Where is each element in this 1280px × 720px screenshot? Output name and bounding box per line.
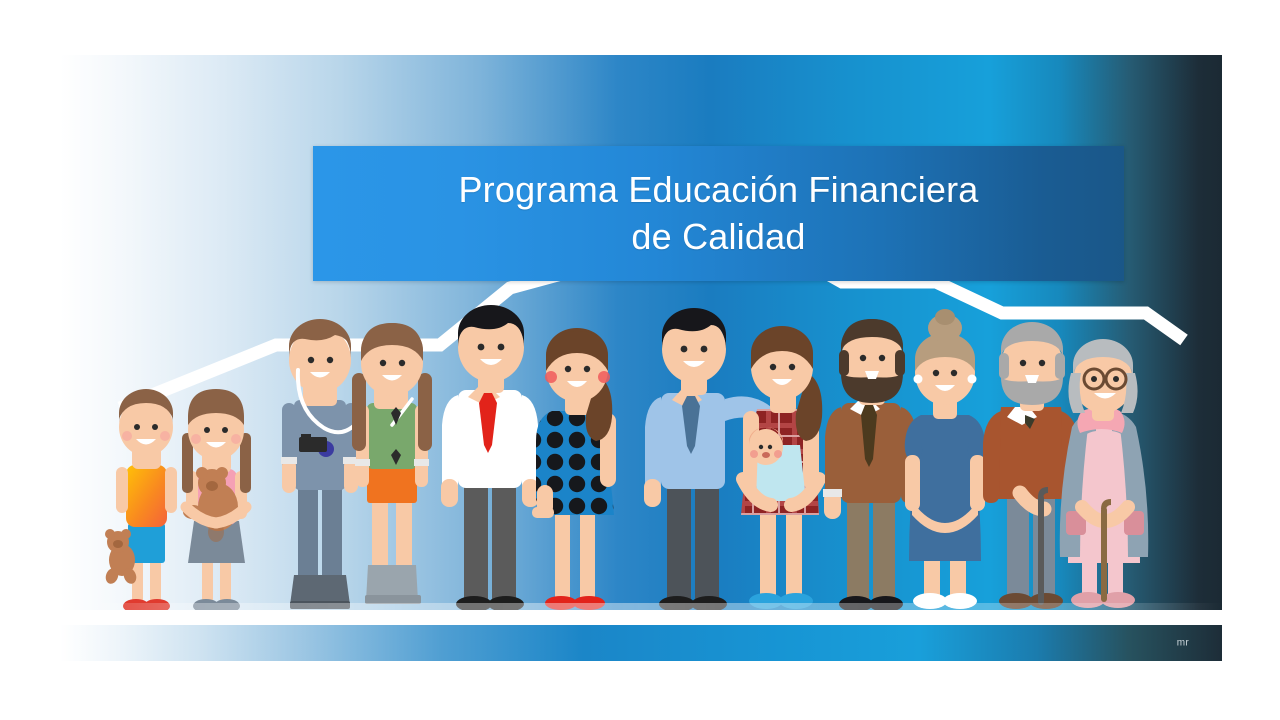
page-title: Programa Educación Financiera de Calidad: [458, 167, 978, 259]
person-child-girl: [182, 389, 251, 610]
slide-canvas: Programa Educación Financiera de Calidad…: [0, 0, 1280, 720]
ground-strip: [60, 603, 1222, 610]
person-young-woman: [532, 328, 616, 610]
people-illustration-group: [60, 55, 1222, 610]
person-elderly-woman: [1060, 339, 1149, 608]
person-bearded-man: [823, 319, 917, 610]
person-child-boy: [104, 389, 177, 610]
person-blonde-woman: [905, 309, 986, 609]
person-teen-girl: [352, 323, 432, 604]
bottom-accent-bar: mr: [60, 625, 1222, 661]
person-teen-boy: [281, 319, 366, 609]
illustration-panel: Programa Educación Financiera de Calidad: [60, 55, 1222, 610]
person-elderly-man: [983, 322, 1079, 609]
footer-label: mr: [1177, 638, 1189, 649]
person-mother-with-baby: [741, 326, 822, 609]
person-young-man: [441, 305, 539, 610]
title-plate: Programa Educación Financiera de Calidad: [313, 146, 1124, 281]
